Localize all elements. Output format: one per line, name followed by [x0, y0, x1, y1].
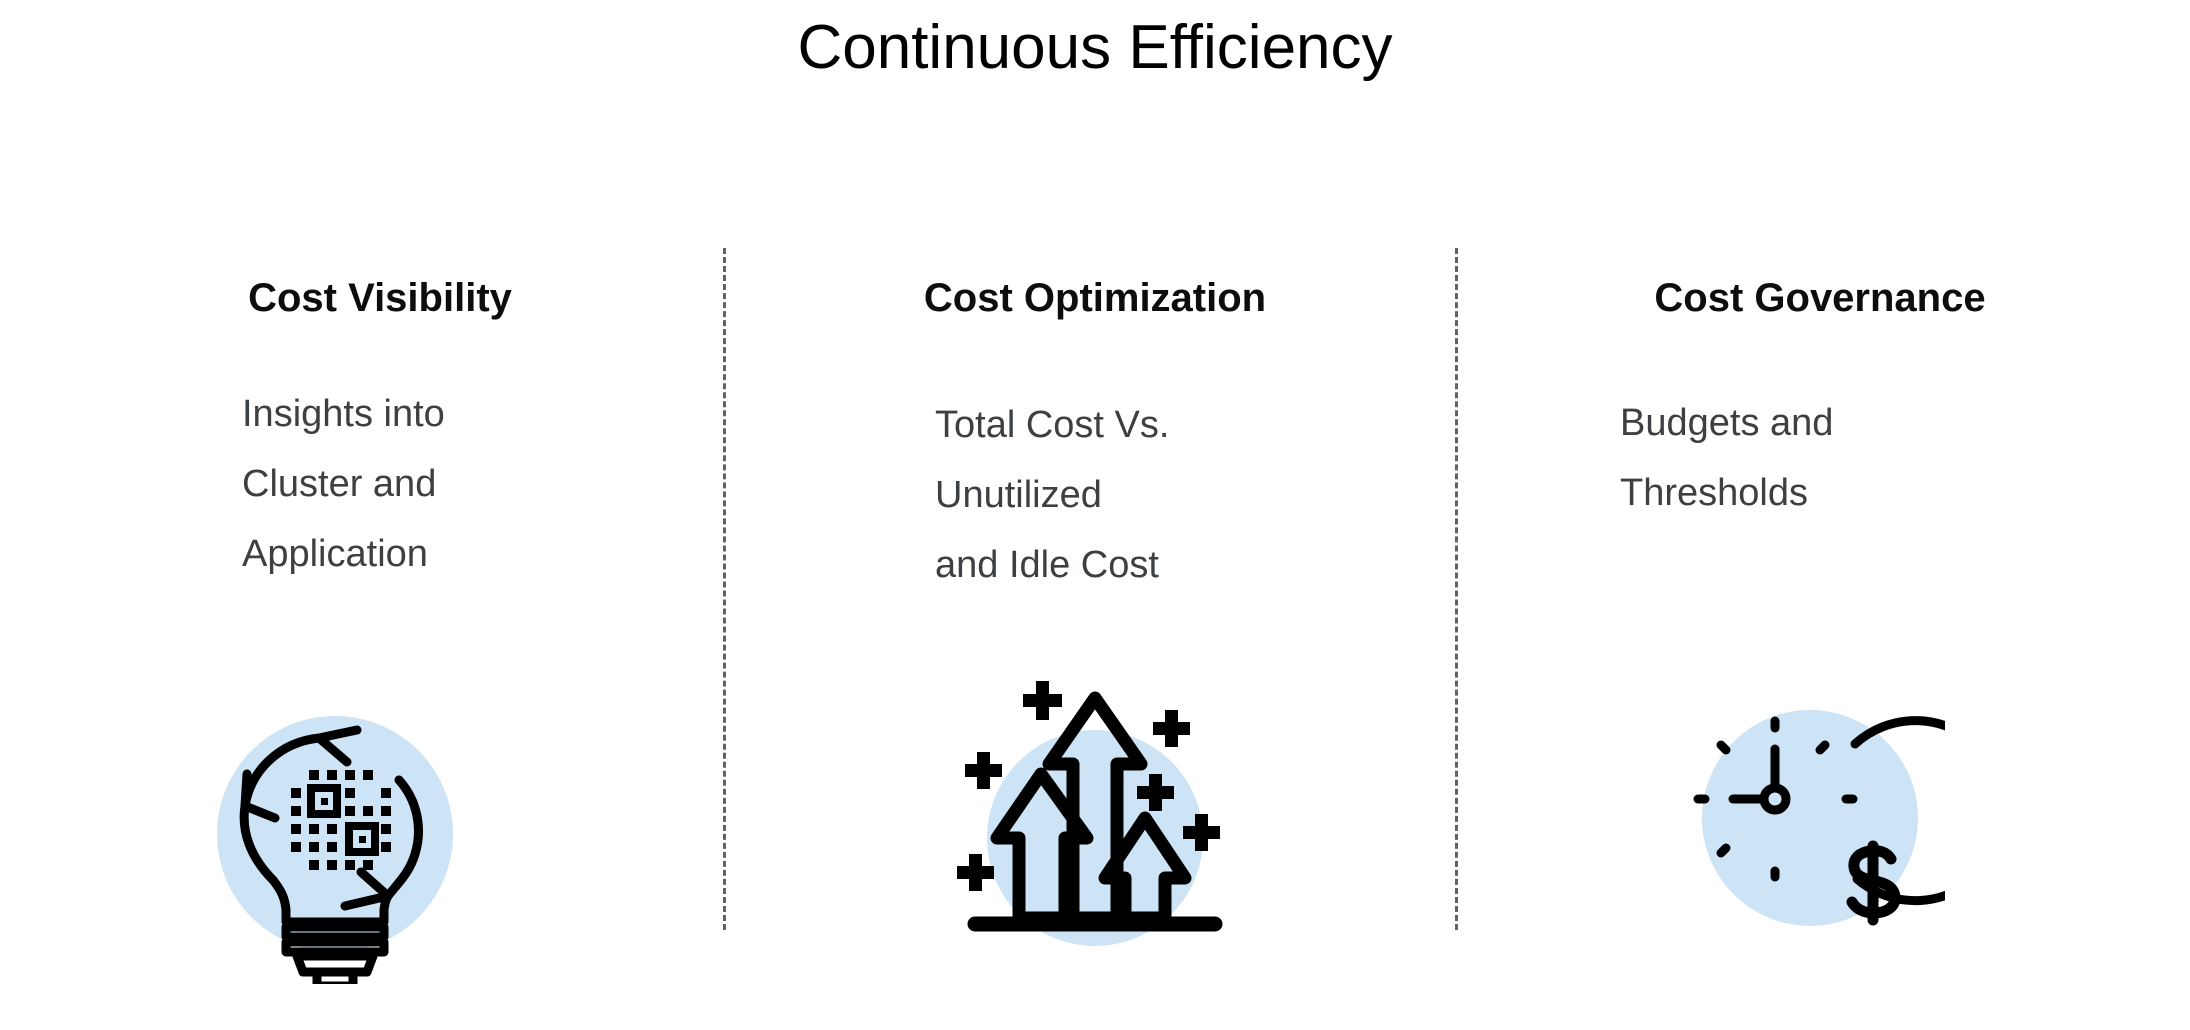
body-line: Unutilized [935, 460, 1415, 530]
column-body-text: Total Cost Vs. Unutilized and Idle Cost [935, 390, 1415, 600]
column-divider [1455, 248, 1458, 930]
body-line: Cluster and [242, 449, 722, 519]
lightbulb-chip-refresh-icon [185, 684, 485, 984]
column-cost-optimization: Cost Optimization Total Cost Vs. Unutili… [745, 246, 1445, 946]
body-line: Insights into [242, 379, 722, 449]
clock-dollar-icon [1645, 666, 1945, 966]
column-heading: Cost Governance [1470, 276, 2170, 320]
page-title: Continuous Efficiency [0, 14, 2190, 82]
body-line: Total Cost Vs. [935, 390, 1415, 460]
column-cost-governance: Cost Governance Budgets and Thresholds [1470, 246, 2170, 946]
column-body-text: Budgets and Thresholds [1620, 388, 2100, 528]
column-body-text: Insights into Cluster and Application [242, 379, 722, 589]
column-heading: Cost Visibility [30, 276, 730, 320]
body-line: Budgets and [1620, 388, 2100, 458]
body-line: Thresholds [1620, 458, 2100, 528]
body-line: and Idle Cost [935, 530, 1415, 600]
columns-container: Cost Visibility Insights into Cluster an… [0, 246, 2190, 946]
column-cost-visibility: Cost Visibility Insights into Cluster an… [30, 246, 730, 946]
three-up-arrows-sparkle-icon [945, 666, 1245, 966]
column-heading: Cost Optimization [745, 276, 1445, 320]
column-divider [723, 248, 726, 930]
body-line: Application [242, 519, 722, 589]
